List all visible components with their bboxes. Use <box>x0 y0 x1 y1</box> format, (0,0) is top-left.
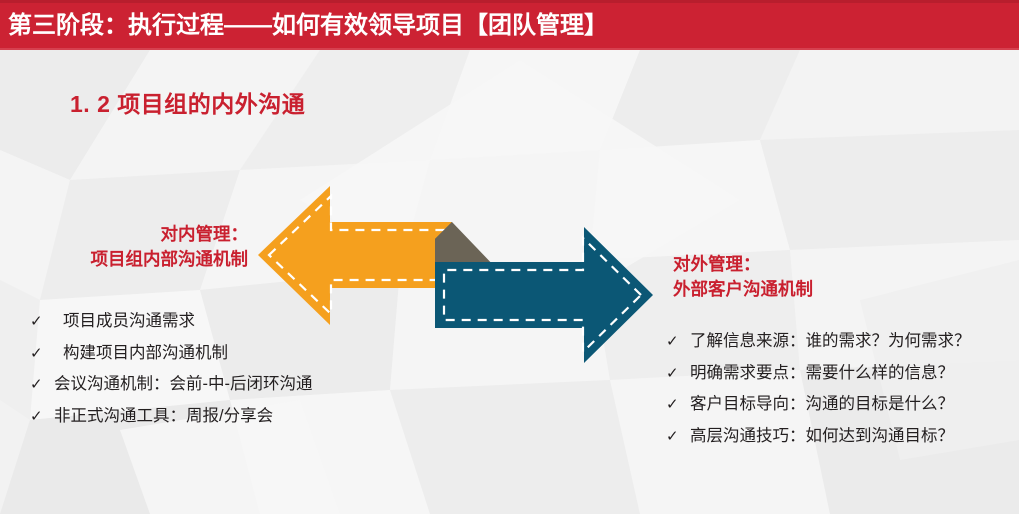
check-icon: ✓ <box>666 334 690 349</box>
page-title: 第三阶段：执行过程——如何有效领导项目【团队管理】 <box>0 14 608 38</box>
check-icon: ✓ <box>666 366 690 381</box>
external-bullet-list: ✓ 了解信息来源：谁的需求？为何需求？ ✓ 明确需求要点：需要什么样的信息？ ✓… <box>666 333 971 459</box>
list-item-label: 客户目标导向：沟通的目标是什么？ <box>690 396 954 413</box>
slide-canvas: 第三阶段：执行过程——如何有效领导项目【团队管理】 1. 2 项目组的内外沟通 … <box>0 0 1019 514</box>
list-item: ✓ 了解信息来源：谁的需求？为何需求？ <box>666 333 971 350</box>
list-item-label: 会议沟通机制：会前-中-后闭环沟通 <box>54 376 313 393</box>
list-item: ✓ 项目成员沟通需求 <box>30 313 313 330</box>
check-icon: ✓ <box>30 314 54 329</box>
list-item: ✓ 非正式沟通工具：周报/分享会 <box>30 408 313 425</box>
check-icon: ✓ <box>666 397 690 412</box>
slide-title-bar: 第三阶段：执行过程——如何有效领导项目【团队管理】 <box>0 0 1019 50</box>
check-icon: ✓ <box>666 429 690 444</box>
list-item-label: 构建项目内部沟通机制 <box>54 345 228 362</box>
list-item: ✓ 会议沟通机制：会前-中-后闭环沟通 <box>30 376 313 393</box>
external-heading-line2: 外部客户沟通机制 <box>673 277 813 302</box>
internal-heading-line2: 项目组内部沟通机制 <box>91 247 249 272</box>
check-icon: ✓ <box>30 346 54 361</box>
internal-bullet-list: ✓ 项目成员沟通需求 ✓ 构建项目内部沟通机制 ✓ 会议沟通机制：会前-中-后闭… <box>30 313 313 439</box>
list-item-label: 项目成员沟通需求 <box>54 313 195 330</box>
internal-management-heading: 对内管理： 项目组内部沟通机制 <box>91 222 249 273</box>
section-subtitle: 1. 2 项目组的内外沟通 <box>70 85 305 119</box>
external-heading-line1: 对外管理： <box>673 252 813 277</box>
check-icon: ✓ <box>30 377 54 392</box>
list-item: ✓ 高层沟通技巧：如何达到沟通目标？ <box>666 428 971 445</box>
list-item-label: 高层沟通技巧：如何达到沟通目标？ <box>690 428 954 445</box>
list-item: ✓ 明确需求要点：需要什么样的信息？ <box>666 365 971 382</box>
list-item: ✓ 客户目标导向：沟通的目标是什么？ <box>666 396 971 413</box>
list-item-label: 非正式沟通工具：周报/分享会 <box>54 408 273 425</box>
list-item-label: 了解信息来源：谁的需求？为何需求？ <box>690 333 971 350</box>
list-item: ✓ 构建项目内部沟通机制 <box>30 345 313 362</box>
left-pointing-arrow <box>258 186 452 325</box>
list-item-label: 明确需求要点：需要什么样的信息？ <box>690 365 954 382</box>
external-management-heading: 对外管理： 外部客户沟通机制 <box>673 252 813 303</box>
check-icon: ✓ <box>30 409 54 424</box>
internal-heading-line1: 对内管理： <box>91 222 249 247</box>
